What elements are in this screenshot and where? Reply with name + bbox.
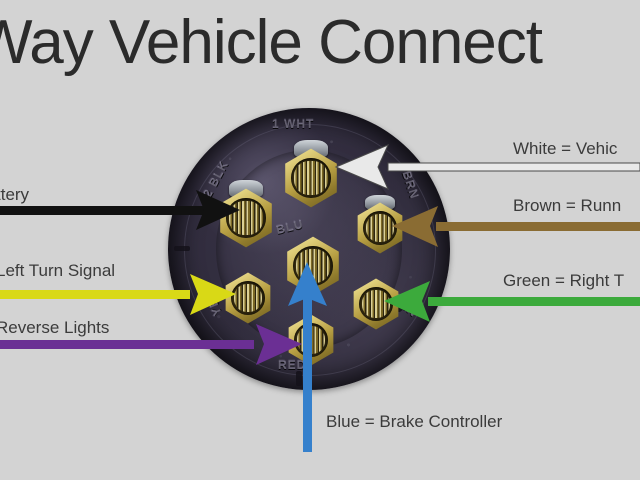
label-battery: ttery: [0, 186, 29, 203]
arrow-battery: [0, 190, 240, 230]
label-left-turn-signal: Left Turn Signal: [0, 262, 115, 279]
label-brown-running-lights: Brown = Runn: [513, 197, 621, 214]
callout-arrows: [0, 0, 640, 480]
label-reverse-lights: Reverse Lights: [0, 319, 109, 336]
label-blue-brake-controller: Blue = Brake Controller: [326, 413, 502, 430]
diagram-canvas: Way Vehicle Connect 1 WHT 2 BLK BRN BLU …: [0, 0, 640, 480]
label-white-vehicle-ground: White = Vehic: [513, 140, 617, 157]
arrow-left-turn-signal: [0, 274, 236, 315]
label-green-right-turn: Green = Right T: [503, 272, 624, 289]
arrow-blue-brake-controller: [288, 262, 327, 452]
